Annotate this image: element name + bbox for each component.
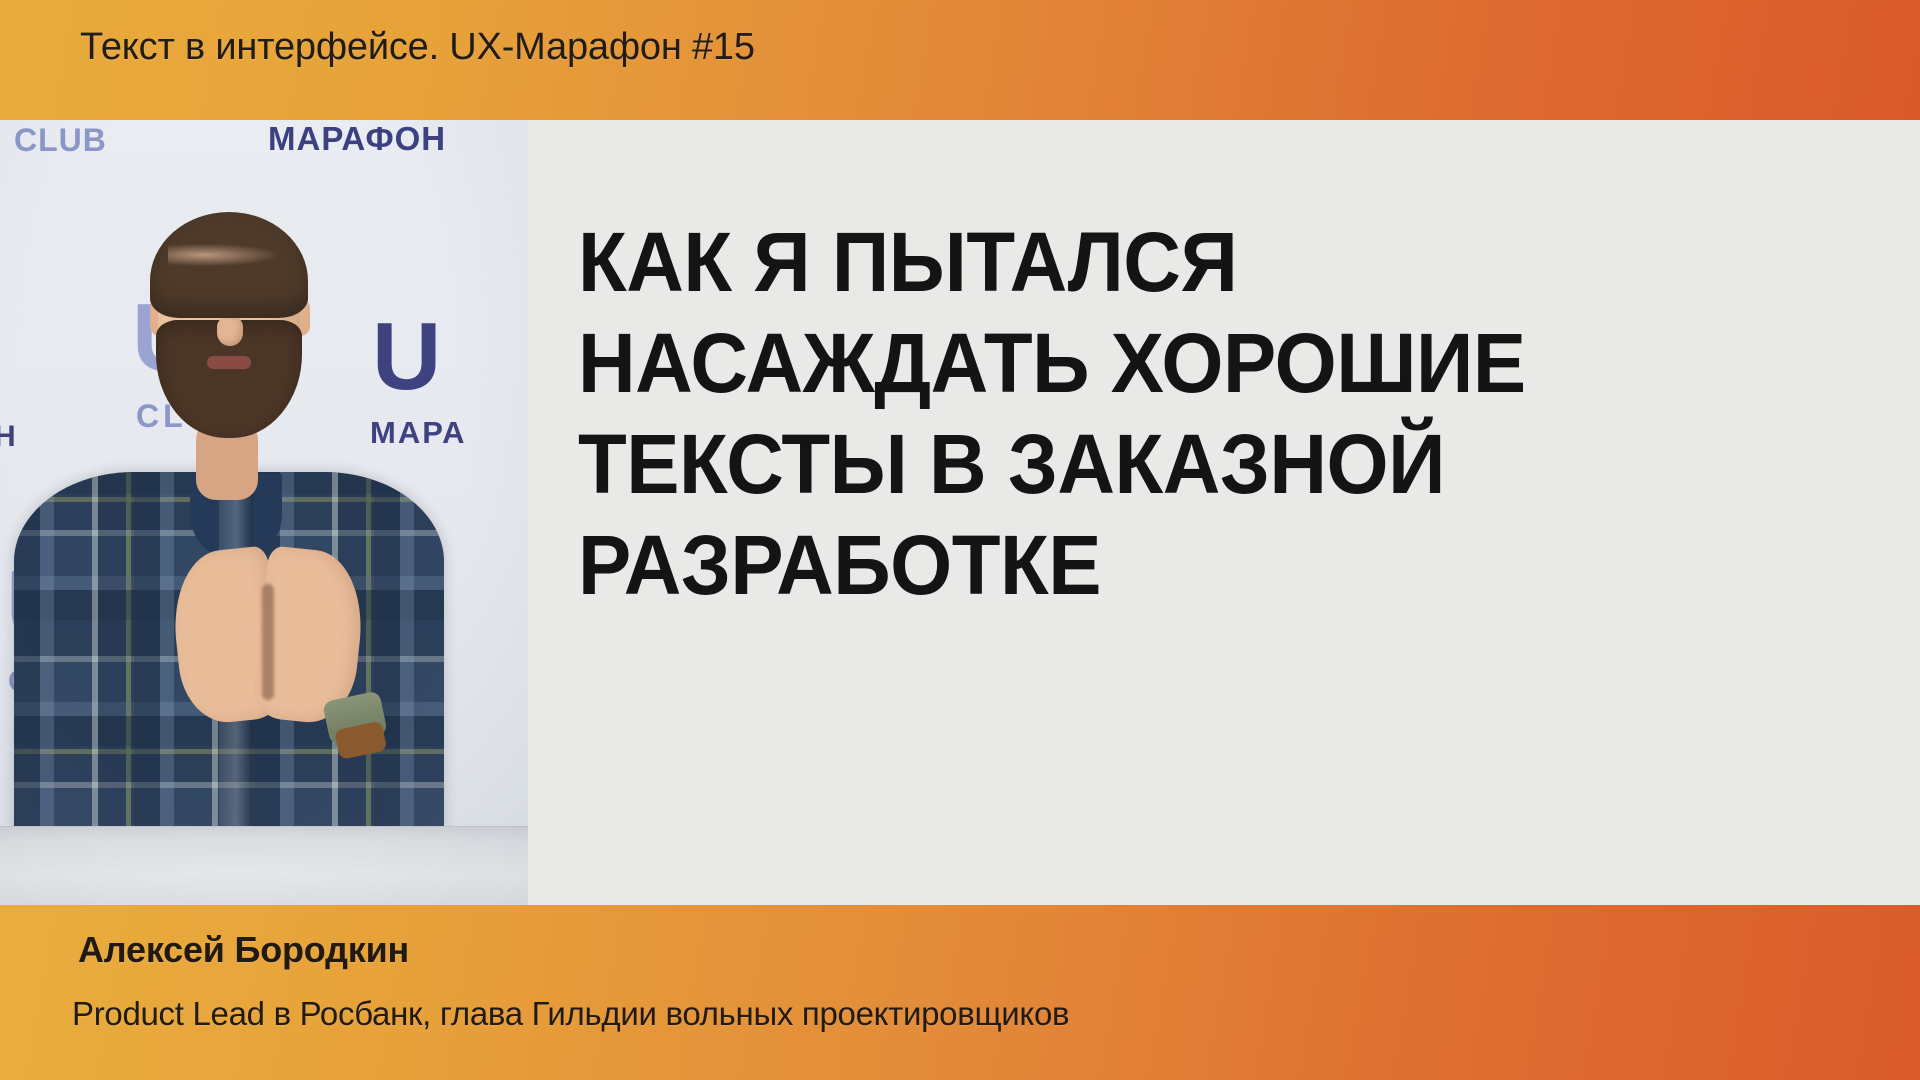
speaker-figure bbox=[0, 120, 528, 905]
speaker-hair bbox=[150, 212, 308, 318]
slide-title-line-4: РАЗРАБОТКЕ bbox=[578, 515, 1832, 616]
speaker-mouth bbox=[207, 356, 251, 369]
presentation-stage: Текст в интерфейсе. UX-Марафон #15 CLUB … bbox=[0, 0, 1920, 1080]
speaker-hands bbox=[176, 550, 360, 730]
header-bar: Текст в интерфейсе. UX-Марафон #15 bbox=[0, 0, 1920, 120]
header-title: Текст в интерфейсе. UX-Марафон #15 bbox=[80, 26, 755, 69]
slide-panel[interactable]: КАК Я ПЫТАЛСЯ НАСАЖДАТЬ ХОРОШИЕ ТЕКСТЫ В… bbox=[528, 120, 1920, 905]
slide-title-line-1: КАК Я ПЫТАЛСЯ bbox=[578, 212, 1832, 313]
speaker-role: Product Lead в Росбанк, глава Гильдии во… bbox=[72, 995, 1069, 1033]
finger-shadow bbox=[262, 584, 274, 700]
slide-title: КАК Я ПЫТАЛСЯ НАСАЖДАТЬ ХОРОШИЕ ТЕКСТЫ В… bbox=[578, 212, 1832, 616]
slide-title-line-3: ТЕКСТЫ В ЗАКАЗНОЙ bbox=[578, 414, 1832, 515]
desk-surface bbox=[0, 826, 528, 905]
speaker-nose bbox=[217, 316, 243, 346]
speaker-name: Алексей Бородкин bbox=[78, 929, 409, 971]
slide-title-line-2: НАСАЖДАТЬ ХОРОШИЕ bbox=[578, 313, 1832, 414]
speaker-video-panel[interactable]: CLUB МАРАФОН U CL U МАРА Н U CL U bbox=[0, 120, 528, 905]
footer-bar: Алексей Бородкин Product Lead в Росбанк,… bbox=[0, 905, 1920, 1080]
